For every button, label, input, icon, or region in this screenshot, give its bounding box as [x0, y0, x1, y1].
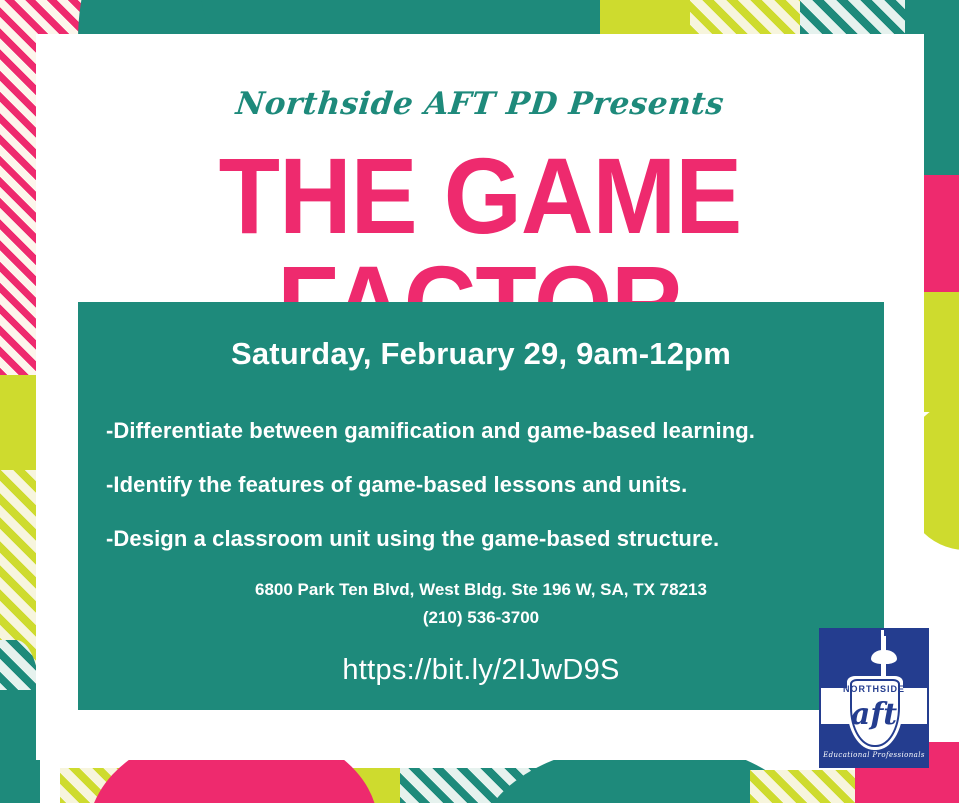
logo-acronym: aft [819, 700, 929, 730]
decoration-lime-block-left [0, 375, 40, 485]
northside-aft-logo: NORTHSIDE aft Educational Professionals [819, 628, 929, 768]
list-item: -Differentiate between gamification and … [106, 418, 884, 444]
decoration-lime-stripes-bottom-right [750, 770, 870, 803]
objectives-list: -Differentiate between gamification and … [78, 418, 884, 552]
list-item: -Design a classroom unit using the game-… [106, 526, 884, 552]
event-date-time: Saturday, February 29, 9am-12pm [78, 336, 884, 372]
list-item: -Identify the features of game-based les… [106, 472, 884, 498]
registration-link[interactable]: https://bit.ly/2IJwD9S [78, 654, 884, 687]
details-panel: Saturday, February 29, 9am-12pm -Differe… [78, 302, 884, 710]
content-card: Northside AFT PD Presents THE GAME FACTO… [36, 34, 924, 760]
flyer-poster: Northside AFT PD Presents THE GAME FACTO… [0, 0, 959, 803]
logo-tagline: Educational Professionals [819, 751, 929, 759]
presenter-line: Northside AFT PD Presents [34, 86, 926, 122]
venue-address: 6800 Park Ten Blvd, West Bldg. Ste 196 W… [78, 580, 884, 600]
contact-phone: (210) 536-3700 [78, 608, 884, 628]
decoration-teal-block-bottom-left [0, 690, 40, 803]
logo-org-name: NORTHSIDE [819, 684, 929, 694]
